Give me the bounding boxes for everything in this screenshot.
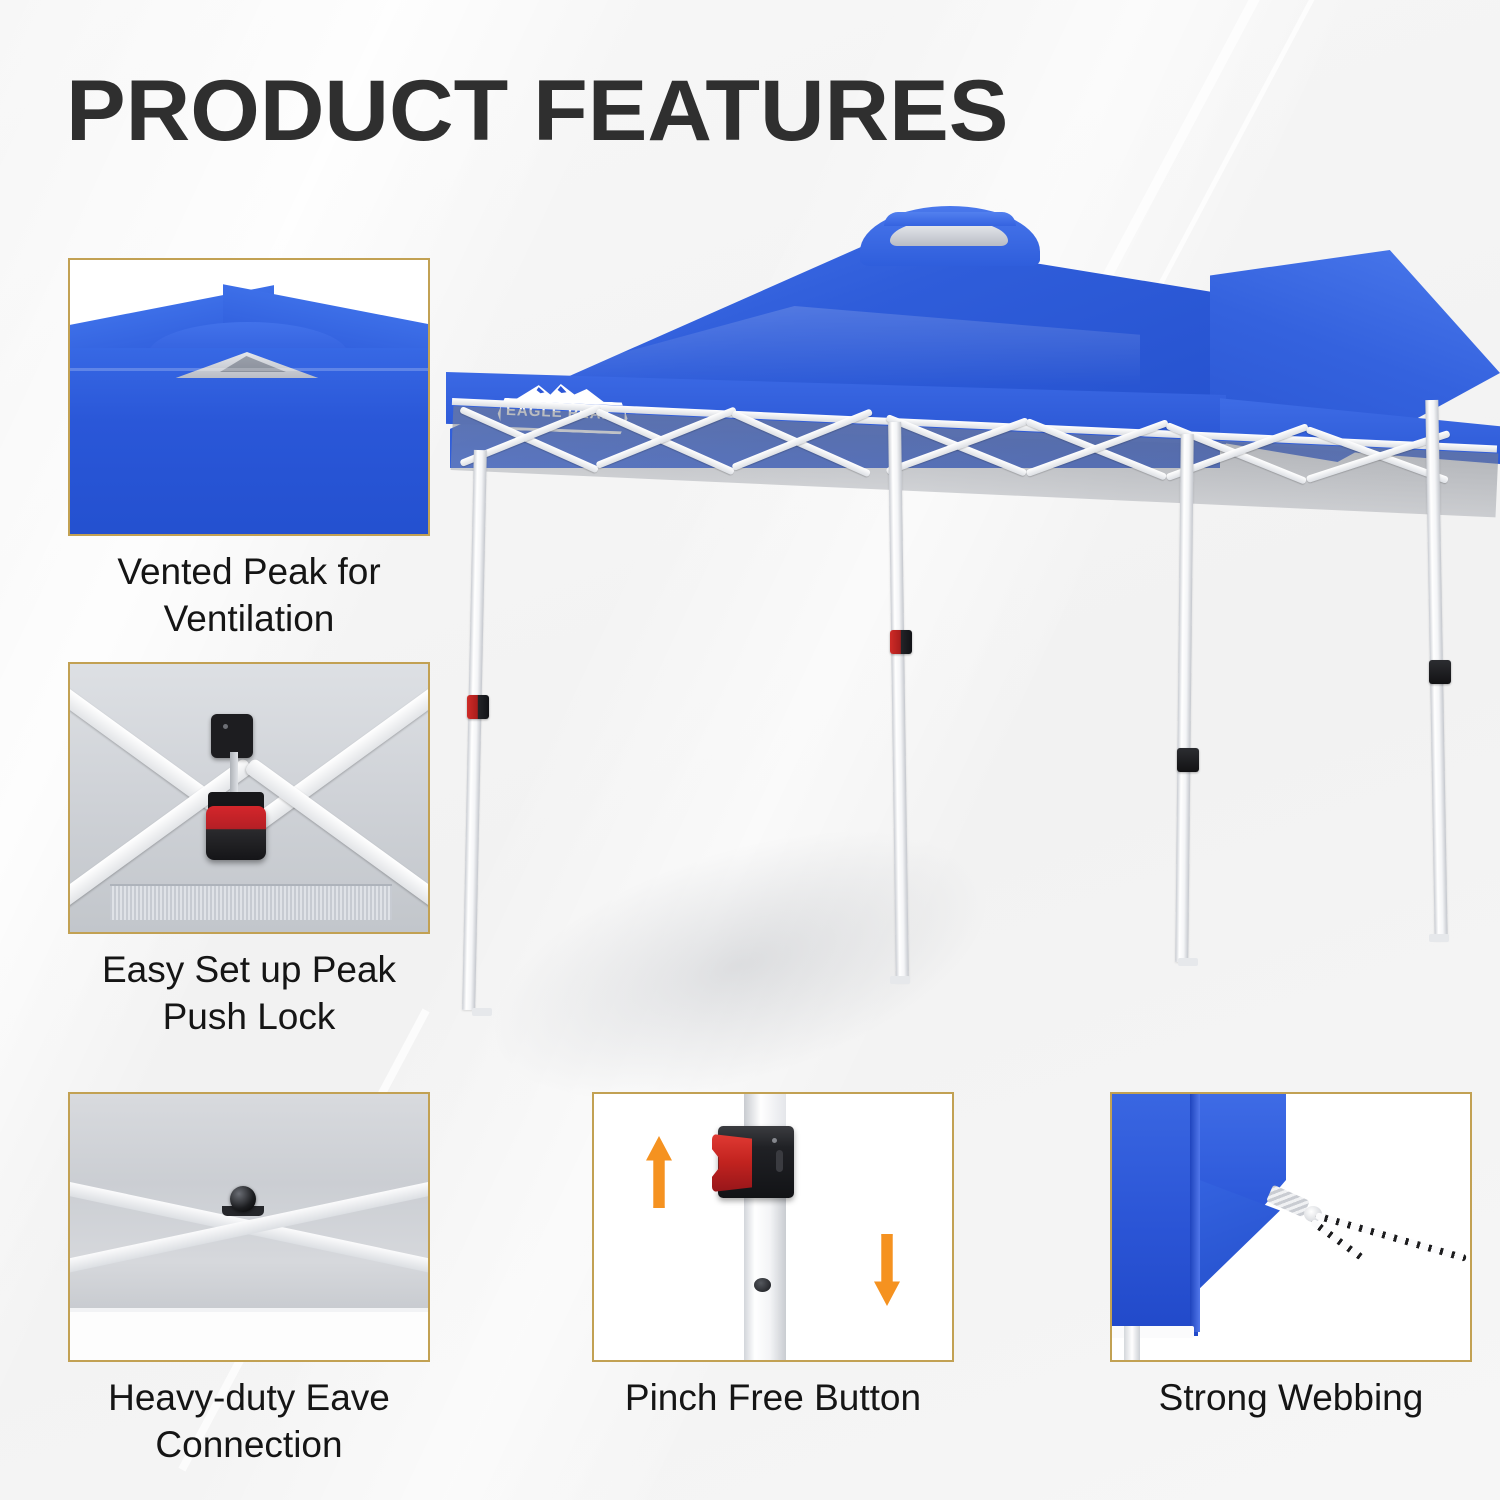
feature-panel-strong-webbing: Strong Webbing — [1110, 1092, 1472, 1464]
caption-line-1: Pinch Free Button — [592, 1374, 954, 1421]
caption-line-2: Ventilation — [68, 595, 430, 642]
caption-line-1: Heavy-duty Eave — [68, 1374, 430, 1421]
leg-foot — [1429, 934, 1449, 942]
page-title: PRODUCT FEATURES — [66, 68, 1008, 154]
caption-line-2: Connection — [68, 1421, 430, 1468]
feature-caption-pinch-free-button: Pinch Free Button — [592, 1374, 954, 1421]
canopy-truss-frame — [452, 398, 1498, 476]
feature-panel-vented-peak: Vented Peak for Ventilation — [68, 258, 430, 628]
housing-screw — [772, 1138, 777, 1143]
canopy-leg-upper — [744, 1092, 786, 1130]
feature-panel-eave-connection: Heavy-duty Eave Connection — [68, 1092, 430, 1464]
housing-slot — [776, 1150, 783, 1172]
canopy-leg — [1124, 1326, 1140, 1362]
leg-foot — [890, 976, 910, 984]
canopy-leg-front-left — [462, 450, 487, 1010]
pinch-free-button-clamp — [890, 630, 912, 654]
push-lock-knob — [206, 806, 266, 860]
caption-line-2: Push Lock — [68, 993, 430, 1040]
pinch-free-button-clamp — [467, 695, 489, 719]
caption-line-1: Strong Webbing — [1110, 1374, 1472, 1421]
leg-foot — [1178, 958, 1198, 966]
feature-image-eave-connection — [68, 1092, 430, 1362]
canopy-fold-seam — [1190, 1092, 1200, 1332]
feature-caption-push-lock: Easy Set up Peak Push Lock — [68, 946, 430, 1041]
feature-image-vented-peak — [68, 258, 430, 536]
feature-panel-pinch-free-button: Pinch Free Button — [592, 1092, 954, 1464]
caption-line-1: Easy Set up Peak — [68, 946, 430, 993]
leg-clamp — [1429, 660, 1451, 684]
feature-caption-strong-webbing: Strong Webbing — [1110, 1374, 1472, 1421]
leg-clamp — [1177, 748, 1199, 772]
feature-image-strong-webbing — [1110, 1092, 1472, 1362]
leg-foot — [472, 1008, 492, 1016]
hero-product-image: EAGLE PEAK — [440, 150, 1480, 1050]
feature-panel-push-lock: Easy Set up Peak Push Lock — [68, 662, 430, 1034]
canopy-leg-rear-center — [1175, 434, 1194, 962]
canopy-ridge — [70, 368, 428, 371]
canopy-fabric-left — [1110, 1092, 1198, 1336]
arrow-up-icon — [646, 1136, 672, 1208]
eave-bolt — [230, 1186, 256, 1212]
feature-caption-eave-connection: Heavy-duty Eave Connection — [68, 1374, 430, 1469]
arrow-down-icon — [874, 1234, 900, 1306]
canopy-hem — [1110, 1326, 1194, 1338]
feature-image-push-lock — [68, 662, 430, 934]
feature-image-pinch-free-button — [592, 1092, 954, 1362]
image-backdrop — [70, 1312, 428, 1360]
caption-line-1: Vented Peak for — [68, 548, 430, 595]
feature-caption-vented-peak: Vented Peak for Ventilation — [68, 548, 430, 643]
canopy-vent-handle — [884, 212, 1016, 226]
canopy-mesh-edge — [110, 884, 392, 920]
leg-adjust-hole — [754, 1278, 771, 1292]
